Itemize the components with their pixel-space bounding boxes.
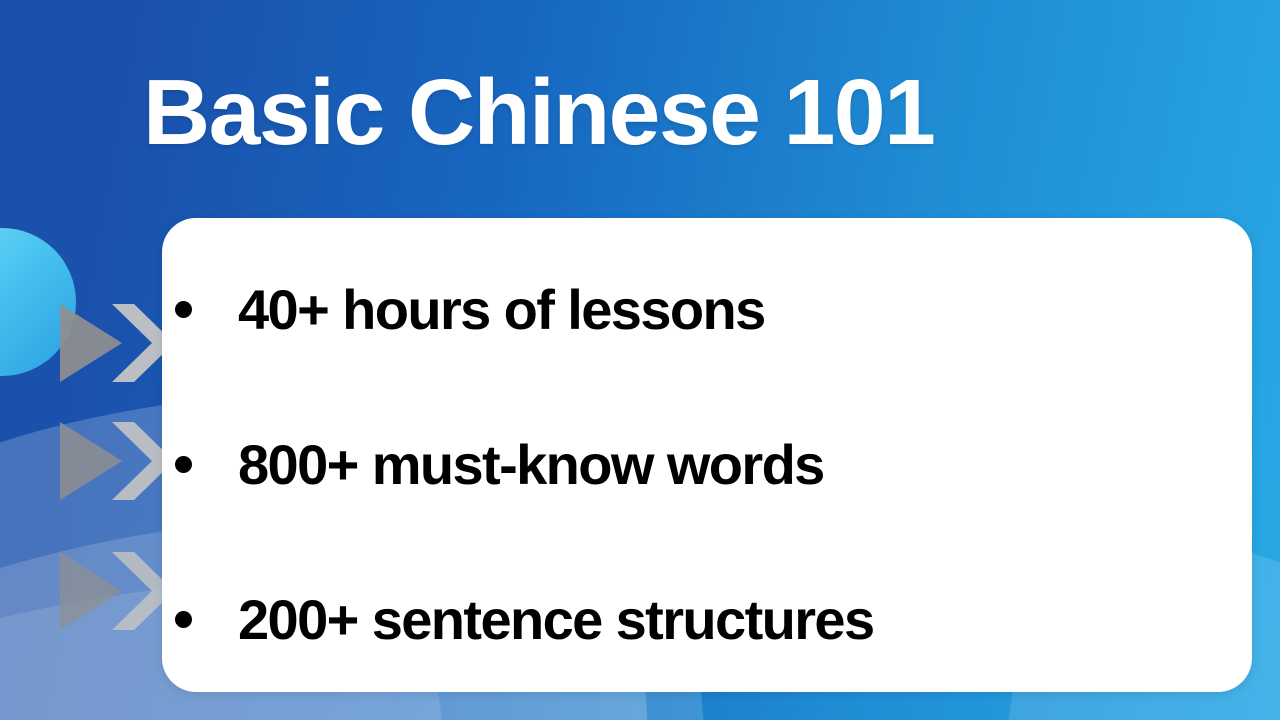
list-item: 200+ sentence structures <box>175 542 1265 697</box>
list-item-label: 40+ hours of lessons <box>238 282 765 338</box>
bullet-dot-icon <box>175 611 192 628</box>
double-arrow-icon <box>56 300 176 386</box>
double-arrow-icon <box>56 548 176 634</box>
feature-list: 40+ hours of lessons 800+ must-know word… <box>175 232 1265 697</box>
page-title: Basic Chinese 101 <box>143 62 934 162</box>
list-item: 40+ hours of lessons <box>175 232 1265 387</box>
list-item-label: 800+ must-know words <box>238 437 824 493</box>
bullet-dot-icon <box>175 456 192 473</box>
bullet-dot-icon <box>175 301 192 318</box>
double-arrow-icon <box>56 418 176 504</box>
slide-canvas: Basic Chinese 101 40+ hours of lessons 8… <box>0 0 1280 720</box>
list-item-label: 200+ sentence structures <box>238 592 874 648</box>
list-item: 800+ must-know words <box>175 387 1265 542</box>
